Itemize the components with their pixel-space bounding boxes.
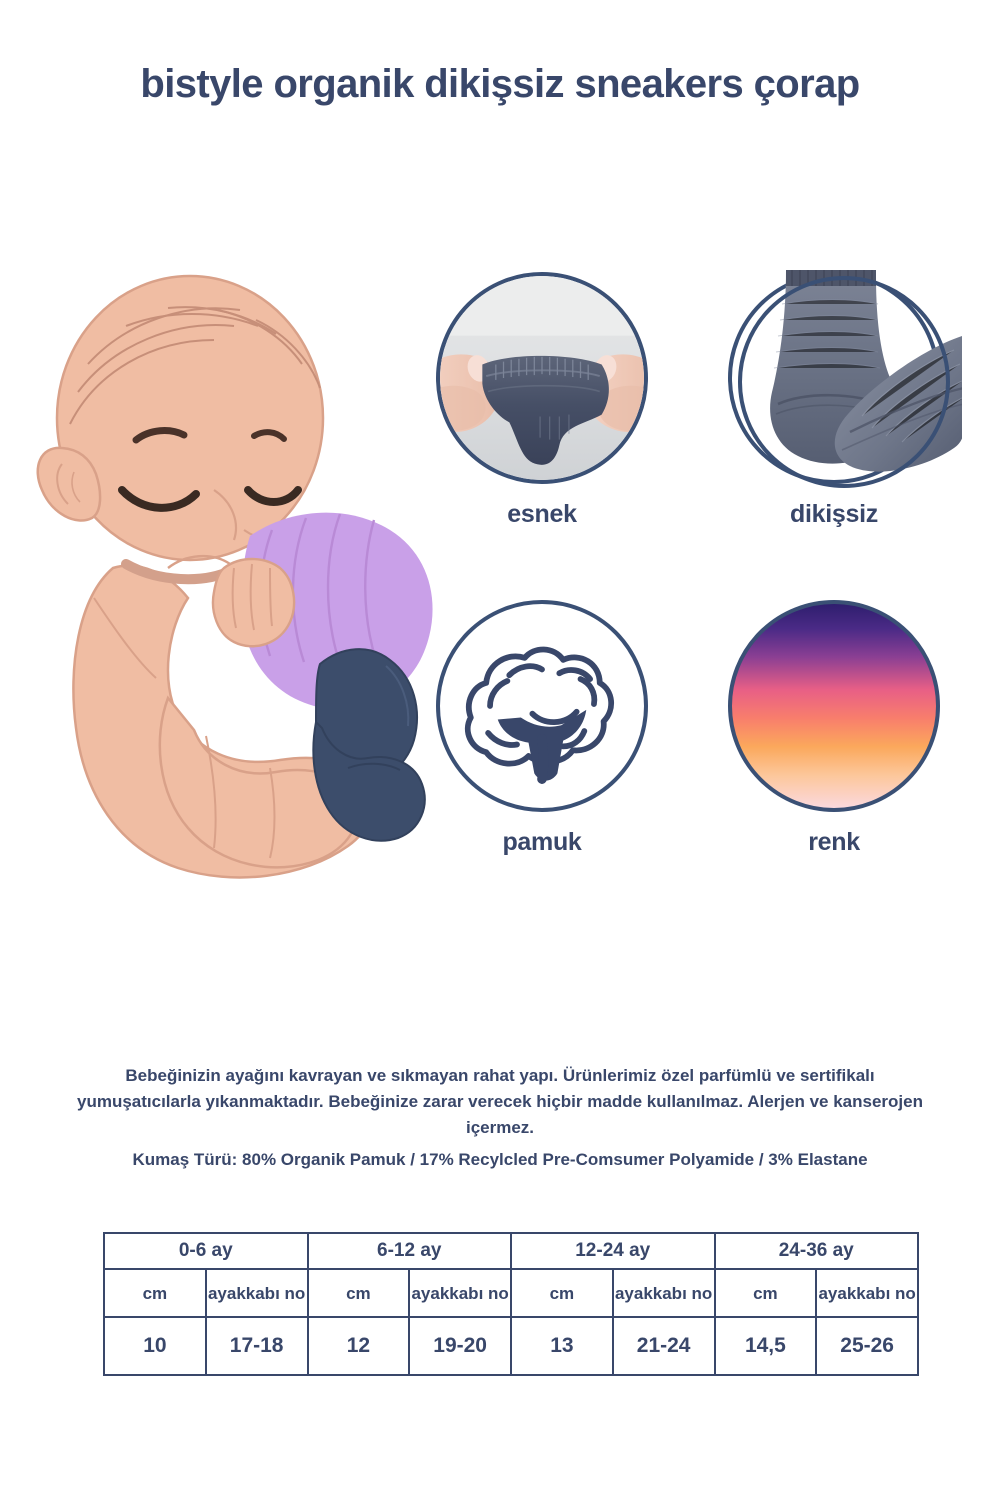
value-cell: 10 <box>104 1317 206 1375</box>
value-cell: 19-20 <box>409 1317 511 1375</box>
renk-circle <box>728 600 940 812</box>
pamuk-circle <box>436 600 648 812</box>
age-group-cell: 24-36 ay <box>715 1233 919 1269</box>
value-cell: 12 <box>308 1317 410 1375</box>
table-row-sub-headers: cm ayakkabı no cm ayakkabı no cm ayakkab… <box>104 1269 918 1317</box>
feature-dikissiz[interactable]: dikişsiz <box>728 272 940 529</box>
feature-esnek[interactable]: esnek <box>436 272 648 529</box>
value-cell: 17-18 <box>206 1317 308 1375</box>
value-cell: 13 <box>511 1317 613 1375</box>
feature-label-renk: renk <box>728 828 940 857</box>
baby-illustration <box>18 268 448 888</box>
baby-hand <box>213 559 294 646</box>
dikissiz-circle <box>728 272 940 484</box>
sub-header-cell: ayakkabı no <box>206 1269 308 1317</box>
seamless-sock-photo <box>726 264 962 496</box>
sub-header-cell: cm <box>104 1269 206 1317</box>
sub-header-cell: cm <box>715 1269 817 1317</box>
feature-label-esnek: esnek <box>436 500 648 529</box>
feature-pamuk[interactable]: pamuk <box>436 600 648 857</box>
product-description: Bebeğinizin ayağını kavrayan ve sıkmayan… <box>62 1063 938 1141</box>
feature-grid: esnek <box>432 272 972 872</box>
size-table: 0-6 ay 6-12 ay 12-24 ay 24-36 ay cm ayak… <box>103 1232 919 1376</box>
sub-header-cell: ayakkabı no <box>409 1269 511 1317</box>
page-title: bistyle organik dikişsiz sneakers çorap <box>0 62 1000 107</box>
value-cell: 25-26 <box>816 1317 918 1375</box>
table-row-values: 10 17-18 12 19-20 13 21-24 14,5 25-26 <box>104 1317 918 1375</box>
stretching-sock-photo <box>440 276 644 480</box>
value-cell: 21-24 <box>613 1317 715 1375</box>
feature-label-dikissiz: dikişsiz <box>728 500 940 529</box>
sub-header-cell: cm <box>511 1269 613 1317</box>
sub-header-cell: cm <box>308 1269 410 1317</box>
value-cell: 14,5 <box>715 1317 817 1375</box>
age-group-cell: 0-6 ay <box>104 1233 308 1269</box>
age-group-cell: 12-24 ay <box>511 1233 715 1269</box>
esnek-circle <box>436 272 648 484</box>
baby-head <box>57 276 323 560</box>
table-row-age-groups: 0-6 ay 6-12 ay 12-24 ay 24-36 ay <box>104 1233 918 1269</box>
sub-header-cell: ayakkabı no <box>613 1269 715 1317</box>
cotton-boll-icon <box>440 604 644 808</box>
sub-header-cell: ayakkabı no <box>816 1269 918 1317</box>
age-group-cell: 6-12 ay <box>308 1233 512 1269</box>
fabric-type-line: Kumaş Türü: 80% Organik Pamuk / 17% Recy… <box>62 1150 938 1170</box>
feature-label-pamuk: pamuk <box>436 828 648 857</box>
feature-renk[interactable]: renk <box>728 600 940 857</box>
